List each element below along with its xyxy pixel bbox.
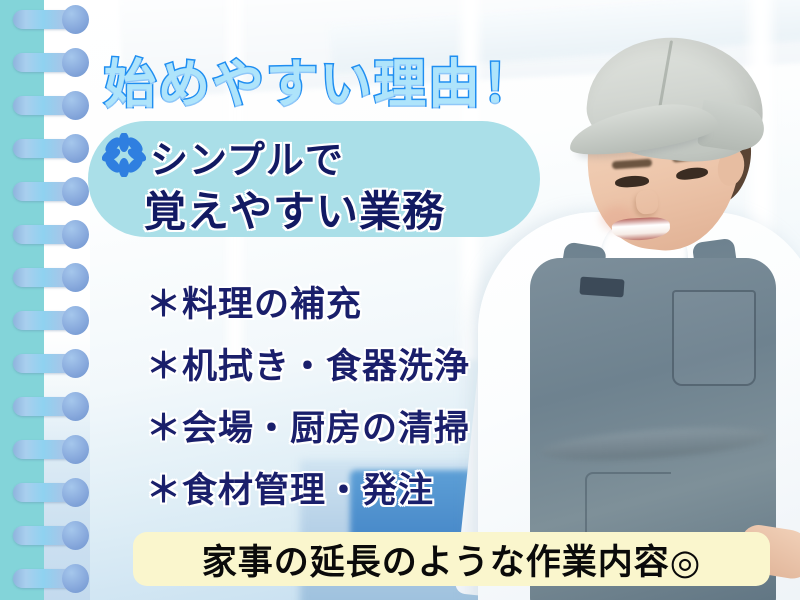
task-list-item: ＊机拭き・食器洗浄: [146, 336, 566, 398]
page-title: 始めやすい理由！: [104, 42, 536, 117]
spiral-ring: [13, 569, 85, 588]
nose: [635, 189, 659, 215]
task-list: ＊料理の補充＊机拭き・食器洗浄＊会場・厨房の清掃＊食材管理・発注: [146, 274, 566, 522]
spiral-ring: [13, 311, 85, 330]
asterisk-flower-icon: [102, 133, 146, 177]
teal-edge-strip: [0, 0, 44, 600]
bottom-banner-text: 家事の延長のような作業内容◎: [133, 532, 770, 586]
spiral-ring: [13, 397, 85, 416]
spiral-ring: [13, 96, 85, 115]
notebook-paper-strip: [44, 0, 90, 600]
task-list-item: ＊料理の補充: [146, 274, 566, 336]
spiral-ring: [13, 10, 85, 29]
spiral-ring: [13, 225, 85, 244]
highlight-line-2: 覚えやすい業務: [144, 178, 445, 239]
spiral-ring: [13, 354, 85, 373]
spiral-ring: [13, 139, 85, 158]
spiral-ring: [13, 182, 85, 201]
apron-tab: [579, 276, 624, 297]
spiral-ring: [13, 526, 85, 545]
spiral-ring: [13, 268, 85, 287]
task-list-item: ＊会場・厨房の清掃: [146, 398, 566, 460]
spiral-ring: [13, 53, 85, 72]
spiral-ring: [13, 440, 85, 459]
poster-canvas: 始めやすい理由！ シンプルで 覚えやすい業務 ＊料理の補充＊机拭き・食器洗浄＊会…: [0, 0, 800, 600]
highlight-pill-content: シンプルで 覚えやすい業務: [88, 121, 558, 251]
task-list-item: ＊食材管理・発注: [146, 460, 566, 522]
apron-pocket: [672, 290, 756, 386]
spiral-ring: [13, 483, 85, 502]
highlight-line-1: シンプルで: [150, 129, 344, 184]
